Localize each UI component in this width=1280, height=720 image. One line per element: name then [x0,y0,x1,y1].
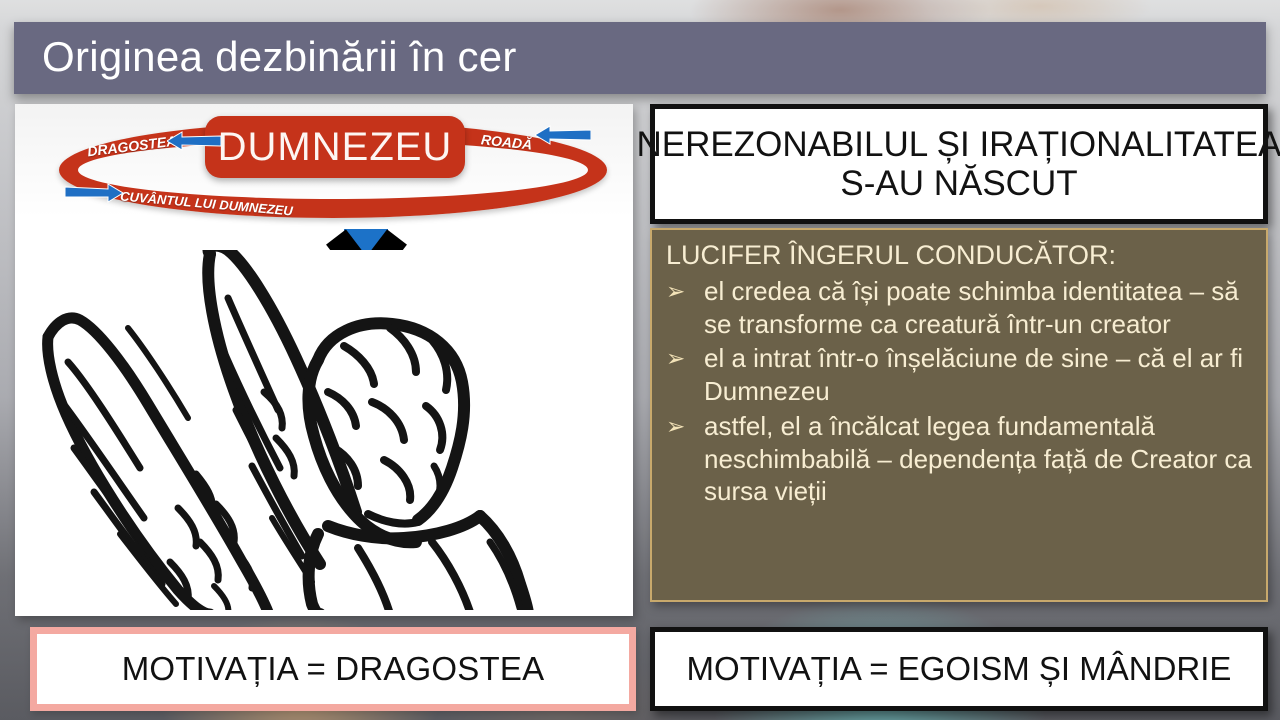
page-title: Originea dezbinării în cer [42,33,517,81]
caption-left-text: MOTIVAȚIA = DRAGOSTEA [122,650,545,688]
angel-illustration [28,250,622,610]
god-cycle-diagram: DUMNEZEU DRAGOSTEA ROADĂ CUVÂNTUL LUI DU… [15,104,633,236]
list-item-text: astfel, el a încălcat legea fundamentală… [704,410,1252,508]
presentation-slide: Originea dezbinării în cer DUMNEZEU DRAG… [14,22,1266,720]
arrow-bullet-icon: ➢ [666,342,704,373]
arrow-left-icon [167,130,221,152]
caption-motivatia-dragostea: MOTIVAȚIA = DRAGOSTEA [30,627,636,711]
dumnezeu-label: DUMNEZEU [218,125,453,170]
left-content-panel: DUMNEZEU DRAGOSTEA ROADĂ CUVÂNTUL LUI DU… [15,104,633,616]
angel-line-art [28,250,622,610]
arrow-bullet-icon: ➢ [666,275,704,306]
lucifer-title: LUCIFER ÎNGERUL CONDUCĂTOR: [666,240,1252,272]
caption-right-text: MOTIVAȚIA = EGOISM ȘI MÂNDRIE [687,650,1232,688]
headline-line-2: S-AU NĂSCUT [840,164,1077,203]
list-item: ➢ astfel, el a încălcat legea fundamenta… [666,410,1252,508]
headline-line-1: NEREZONABILUL ȘI IRAȚIONALITATEA [636,125,1280,164]
list-item: ➢ el credea că își poate schimba identit… [666,275,1252,341]
list-item-text: el credea că își poate schimba identitat… [704,275,1252,341]
arrow-bullet-icon: ➢ [666,410,704,441]
headline-box: NEREZONABILUL ȘI IRAȚIONALITATEA S-AU NĂ… [650,104,1268,224]
dumnezeu-center-box: DUMNEZEU [205,116,465,178]
slide-title-bar: Originea dezbinării în cer [14,22,1266,94]
lucifer-content-box: LUCIFER ÎNGERUL CONDUCĂTOR: ➢ el credea … [650,228,1268,602]
list-item-text: el a intrat într-o înșelăciune de sine –… [704,342,1252,408]
arrow-right-icon [65,180,123,204]
arrow-left-icon [535,124,591,146]
caption-motivatia-egoism: MOTIVAȚIA = EGOISM ȘI MÂNDRIE [650,627,1268,711]
list-item: ➢ el a intrat într-o înșelăciune de sine… [666,342,1252,408]
